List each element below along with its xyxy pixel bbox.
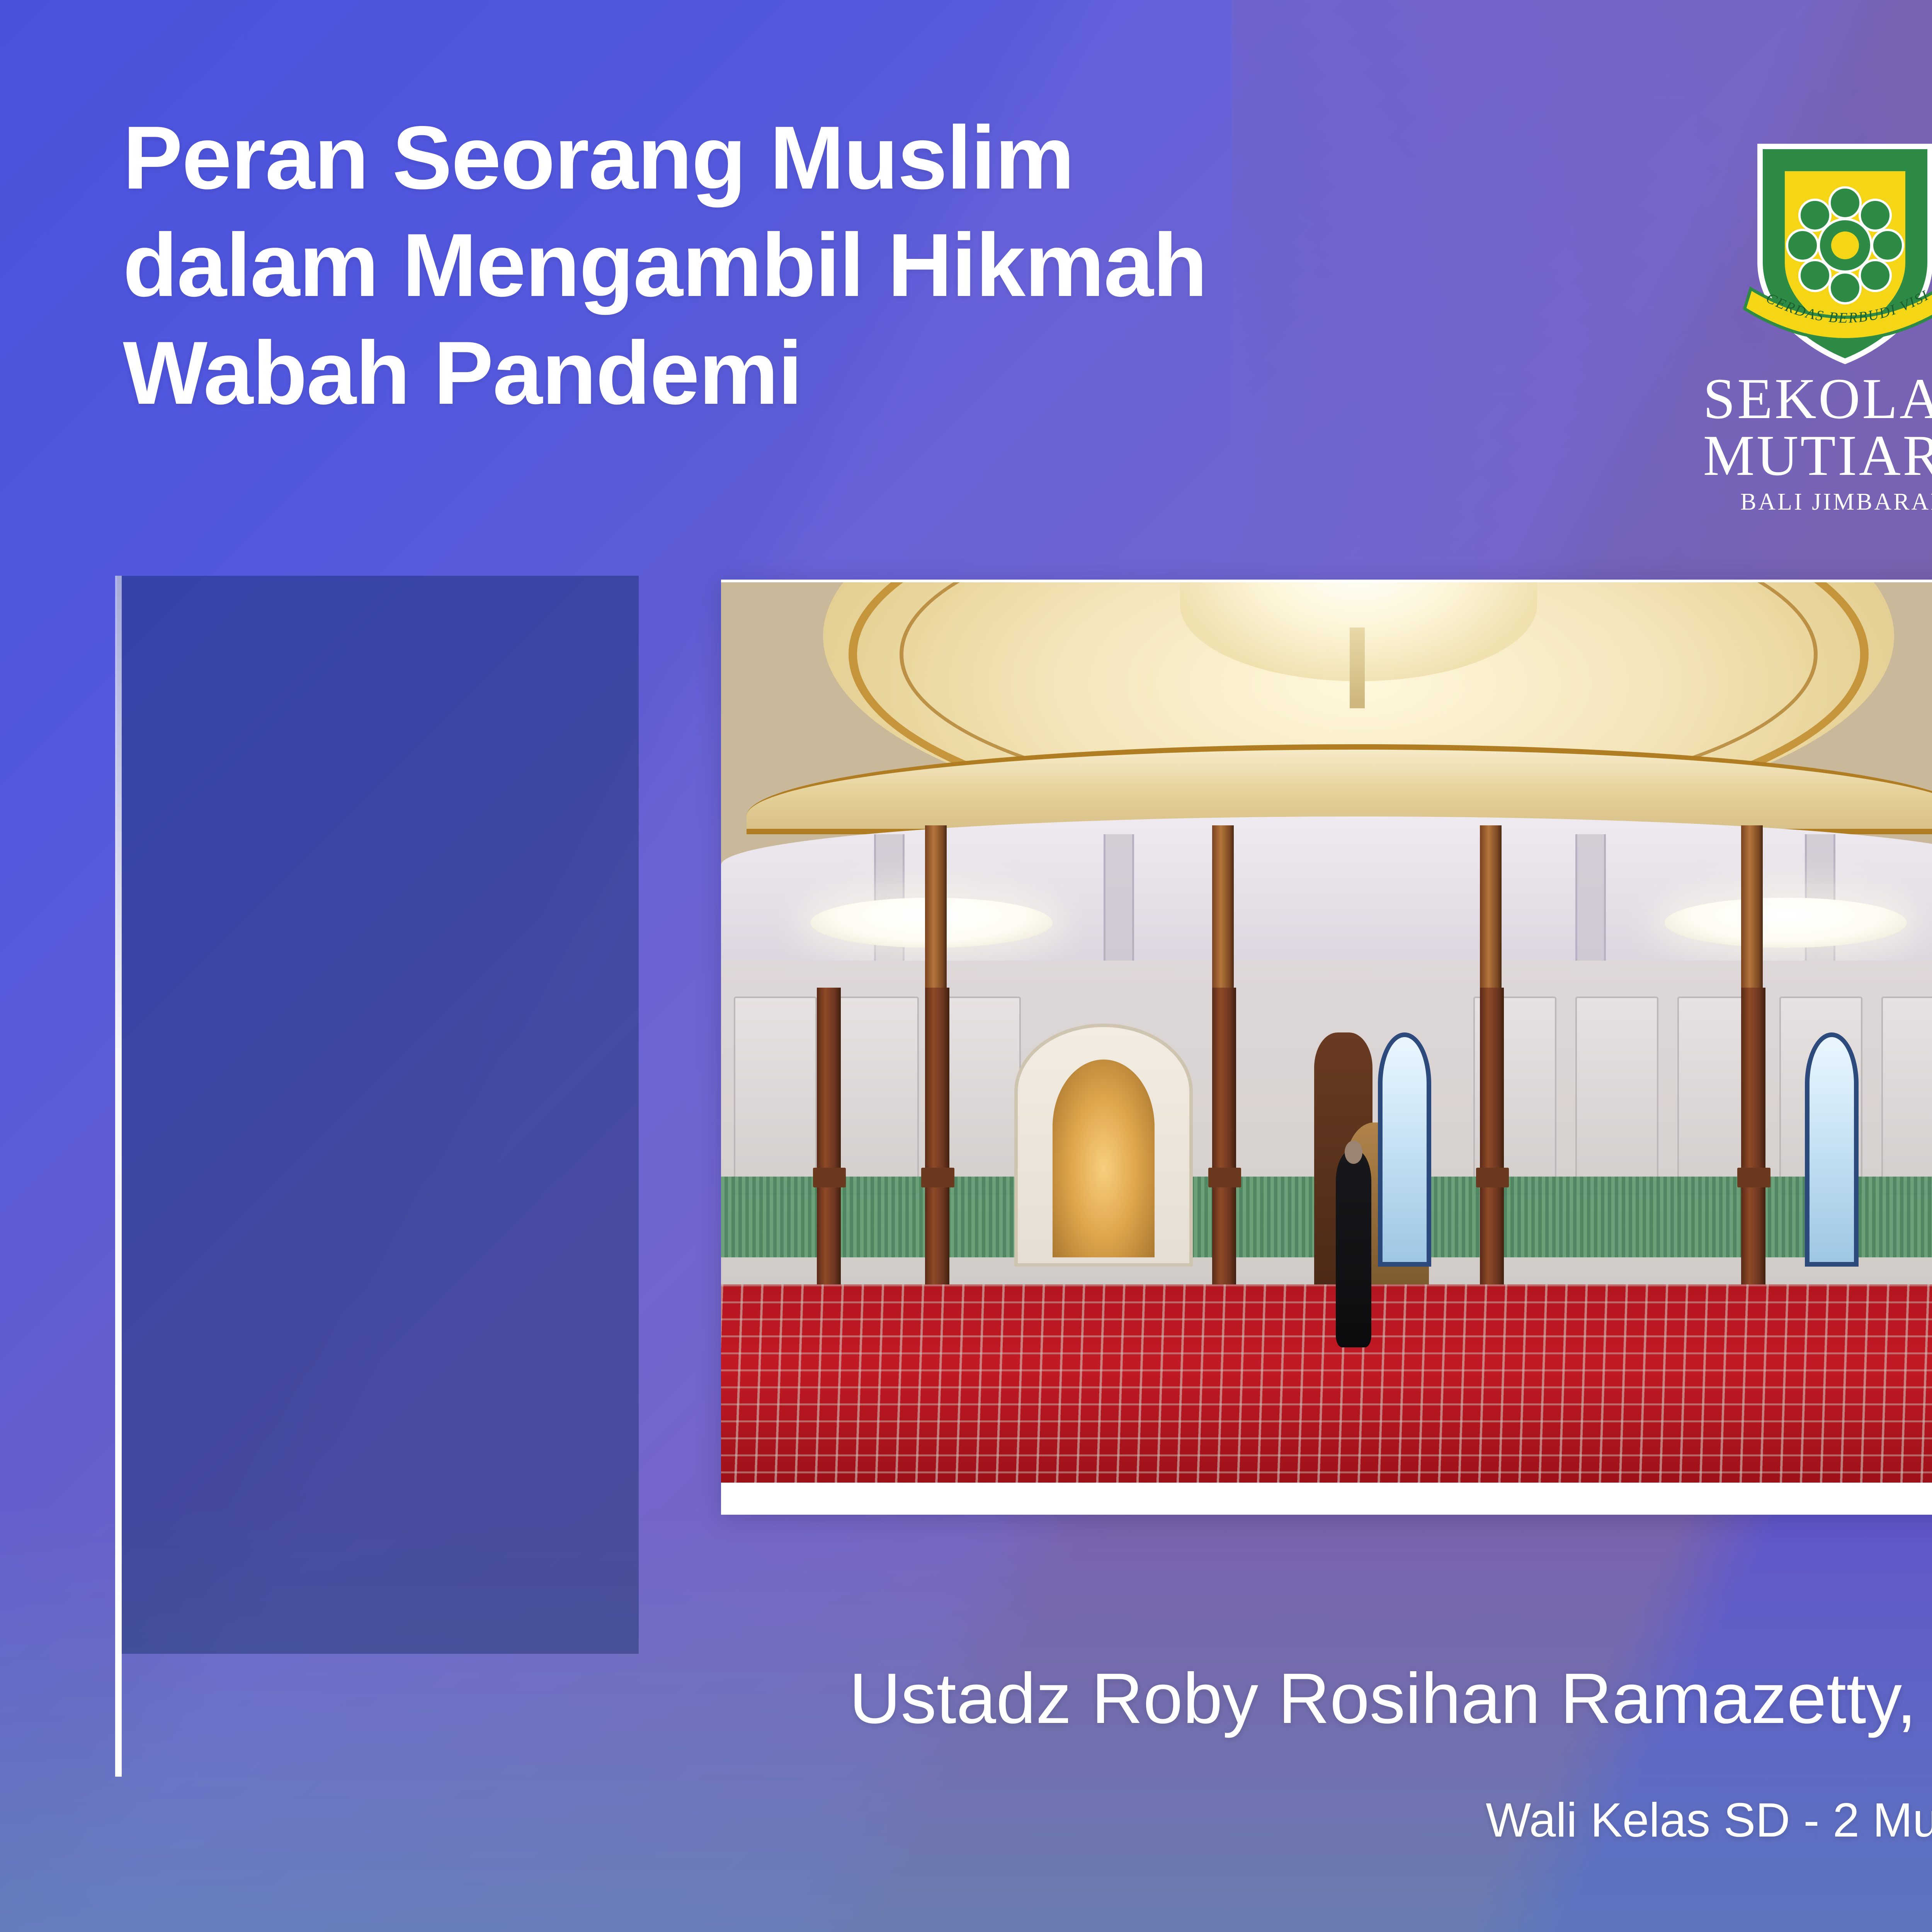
column-base (925, 988, 949, 1294)
wall-panel (1881, 997, 1932, 1195)
chandelier-stem (1350, 628, 1365, 709)
column-base (817, 988, 841, 1294)
ceiling-beam (1575, 834, 1606, 960)
wall-panel (1575, 997, 1658, 1195)
column-capital (921, 1168, 954, 1187)
speaker-name: Ustadz Roby Rosihan Ramazetty, S.T. (0, 1658, 1932, 1740)
disc-lamp (1665, 898, 1907, 948)
person-head (1345, 1141, 1362, 1164)
logo-word-mutiara: MUTIARA (1683, 427, 1932, 484)
photo-frame (721, 580, 1932, 1515)
column-base (1480, 988, 1504, 1294)
page-title-line-2: dalam Mengambil Hikmah (123, 212, 1630, 319)
arched-window (1378, 1032, 1432, 1267)
decorative-navy-panel (117, 576, 639, 1654)
mosque-interior-photo (721, 582, 1932, 1483)
poster-canvas: Peran Seorang Muslim dalam Mengambil Hik… (0, 0, 1932, 1932)
speaker-role: Wali Kelas SD - 2 Mutiara (0, 1793, 1932, 1848)
shield-svg: CERDAS BERBUDI VISIONER (1737, 137, 1932, 373)
prayer-carpet (721, 1284, 1932, 1483)
decorative-white-rule (115, 576, 122, 1777)
ceiling-beam (1104, 834, 1134, 960)
column-base (1212, 988, 1236, 1294)
page-title: Peran Seorang Muslim dalam Mengambil Hik… (123, 104, 1630, 427)
school-logo: CERDAS BERBUDI VISIONER SEKOLAH MUTIARA … (1683, 137, 1932, 520)
logo-word-location: BALI JIMBARAN (1683, 484, 1932, 520)
wall-panel (836, 997, 919, 1195)
praying-person (1336, 1150, 1371, 1348)
column-capital (1476, 1168, 1509, 1187)
page-title-line-1: Peran Seorang Muslim (123, 104, 1630, 212)
mihrab-niche (1053, 1060, 1155, 1258)
column-capital (813, 1168, 846, 1187)
logo-wordmark: SEKOLAH MUTIARA BALI JIMBARAN (1683, 371, 1932, 520)
shield-crest-icon: CERDAS BERBUDI VISIONER (1683, 137, 1932, 373)
column-base (1741, 988, 1765, 1294)
wall-panel (734, 997, 817, 1195)
wall-panel (938, 997, 1021, 1195)
column-capital (1737, 1168, 1770, 1187)
column-capital (1208, 1168, 1242, 1187)
page-title-line-3: Wabah Pandemi (123, 320, 1630, 427)
arched-window (1805, 1032, 1859, 1267)
logo-word-sekolah: SEKOLAH (1683, 371, 1932, 427)
